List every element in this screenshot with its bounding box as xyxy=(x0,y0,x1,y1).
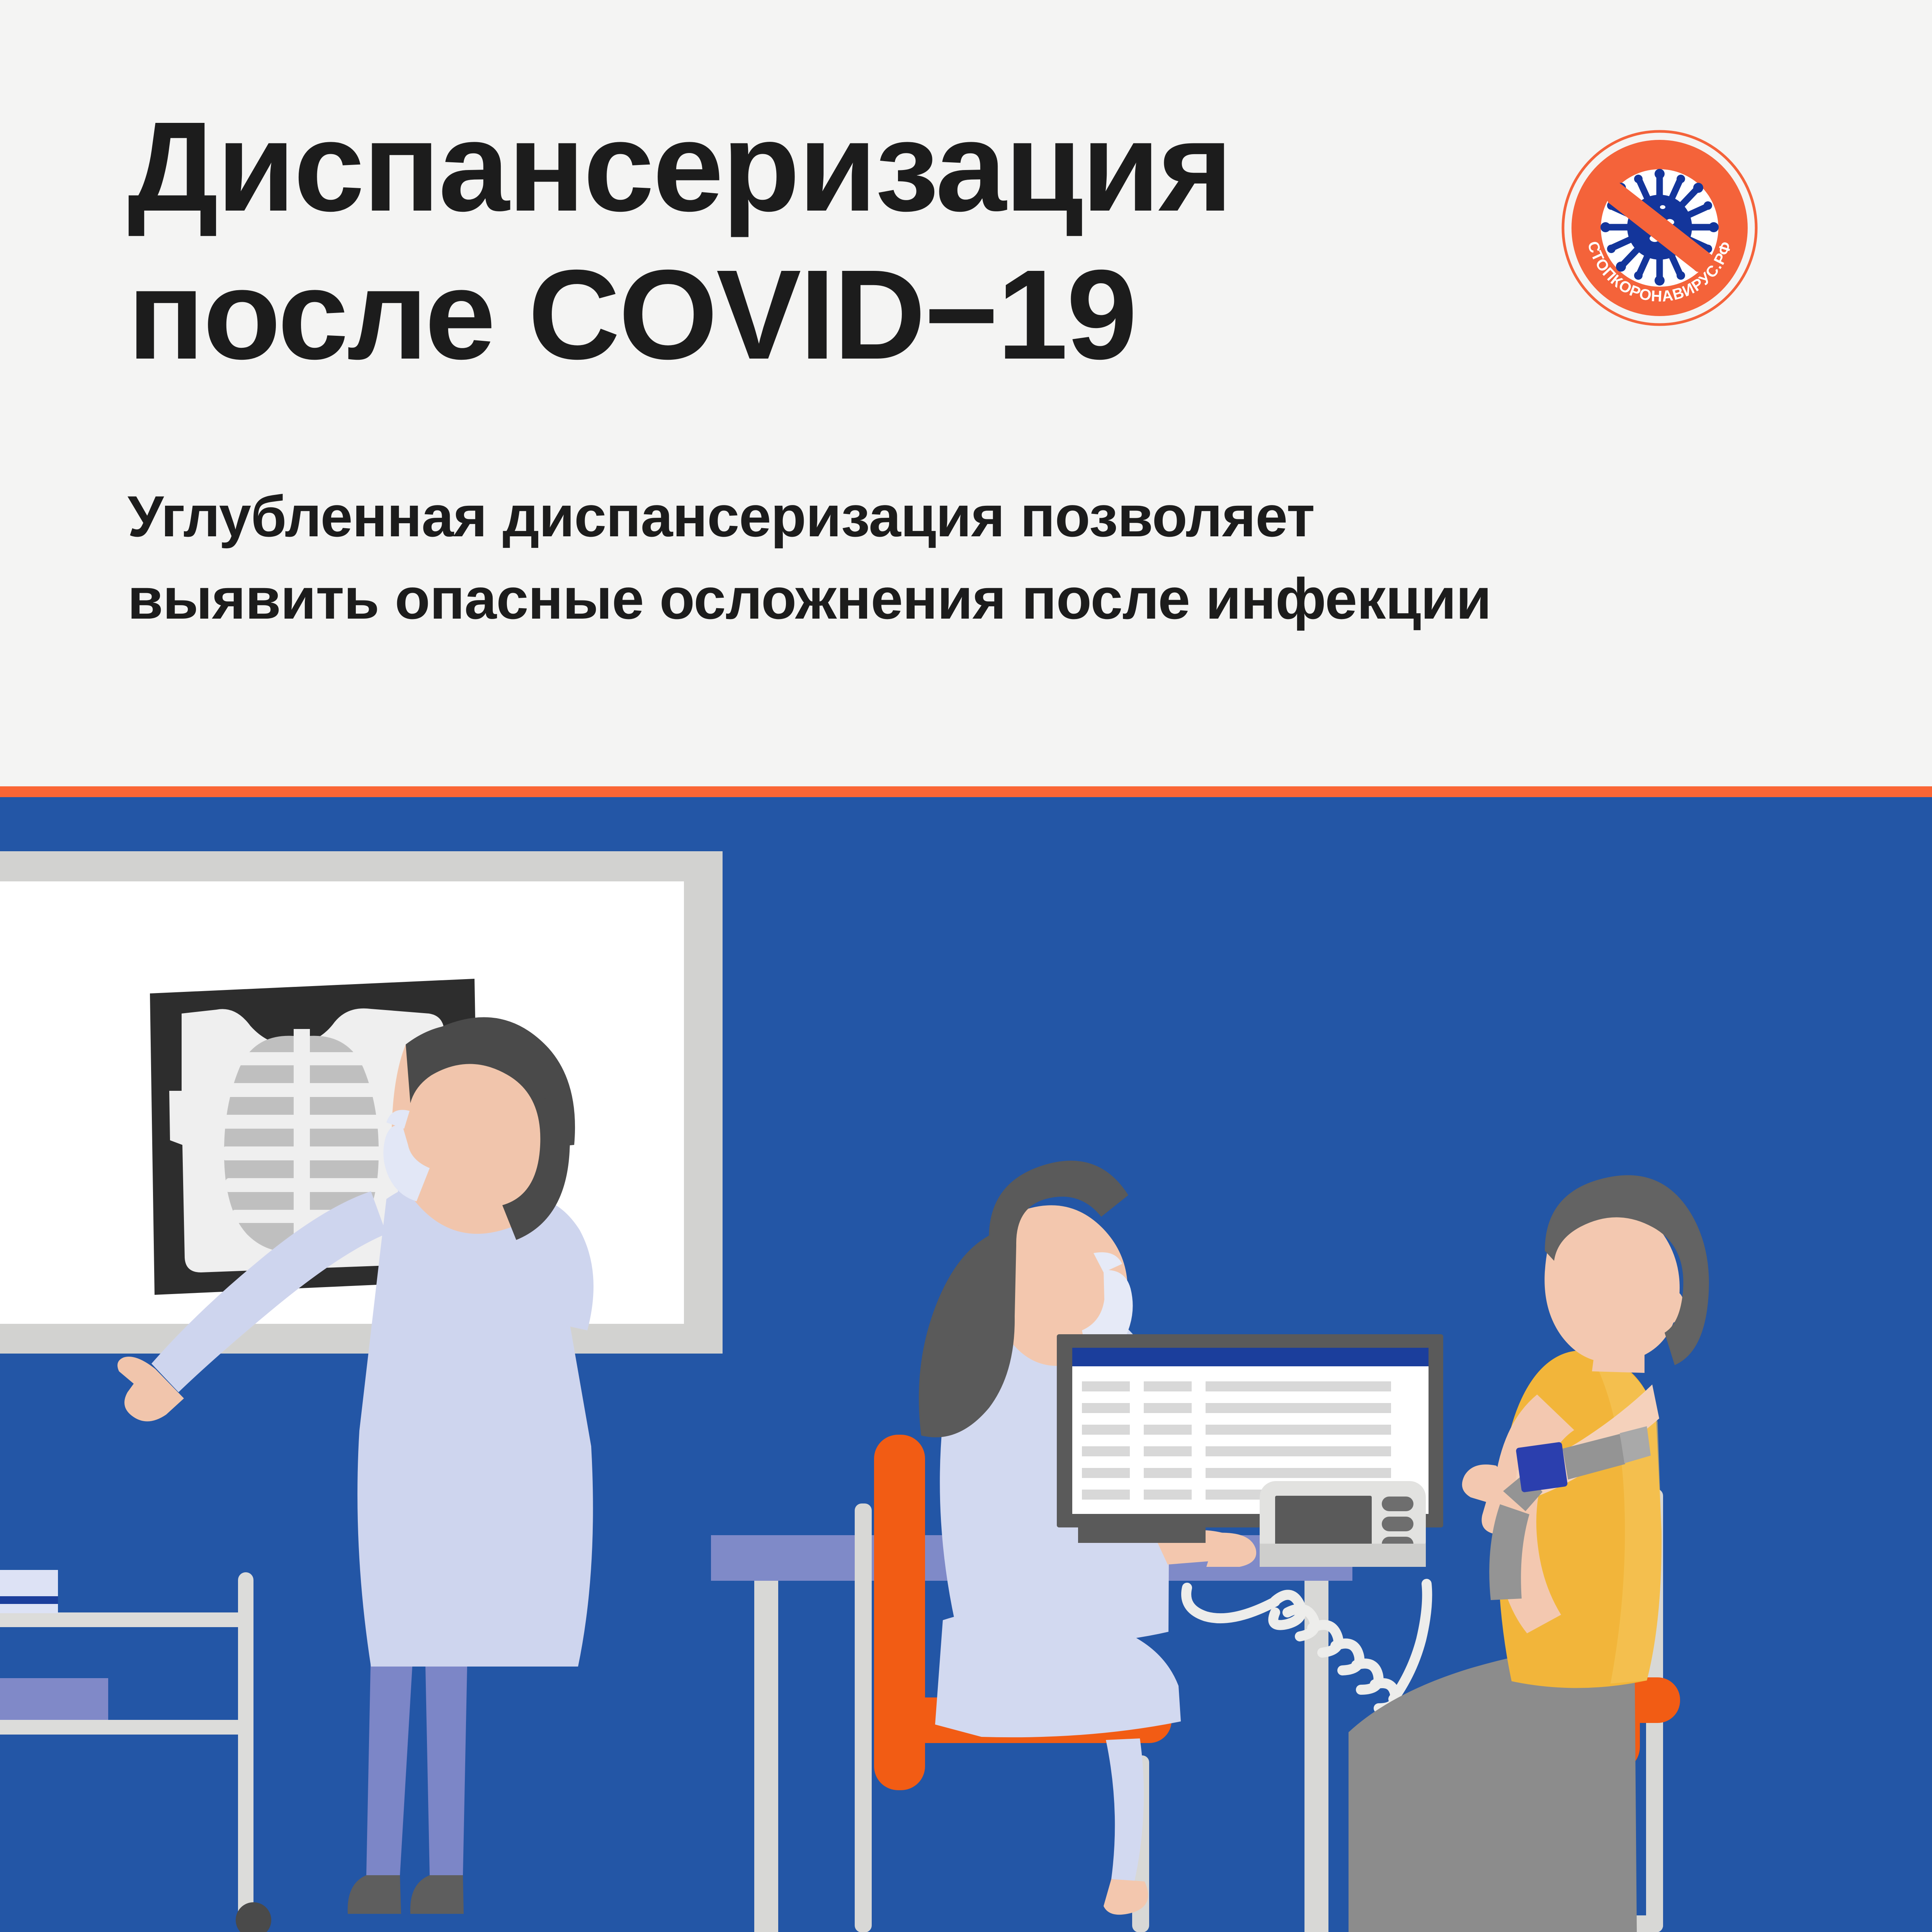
trolley-item-band xyxy=(0,1596,58,1604)
trolley-post xyxy=(238,1572,253,1932)
trolley-shelf-bottom xyxy=(0,1720,251,1735)
stopkoronavirus-rf-badge: СТОПКОРОНАВИРУС.РФ xyxy=(1559,128,1760,328)
desk-leg-left xyxy=(754,1581,778,1932)
page-title: Диспансеризация после COVID−19 xyxy=(128,93,1441,389)
trolley-item-bottom xyxy=(0,1678,108,1720)
page-subtitle: Углубленная диспансеризация позволяет вы… xyxy=(128,475,1731,640)
doctor-leg-right xyxy=(425,1647,468,1875)
chair-left-frame-back xyxy=(855,1503,872,1932)
clinic-scene xyxy=(0,797,1932,1932)
trolley-shelf-top xyxy=(0,1612,251,1627)
infographic-poster: Диспансеризация после COVID−19 Углубленн… xyxy=(0,0,1932,1932)
trolley-item-top xyxy=(0,1570,58,1613)
orange-divider xyxy=(0,786,1932,797)
spirometer-button-2 xyxy=(1382,1517,1413,1531)
spirometer-screen xyxy=(1275,1496,1372,1546)
spirometer-button-1 xyxy=(1382,1497,1413,1511)
monitor-titlebar xyxy=(1072,1348,1429,1366)
spirometer-device xyxy=(1260,1481,1426,1567)
header-band: Диспансеризация после COVID−19 Углубленн… xyxy=(0,0,1932,786)
